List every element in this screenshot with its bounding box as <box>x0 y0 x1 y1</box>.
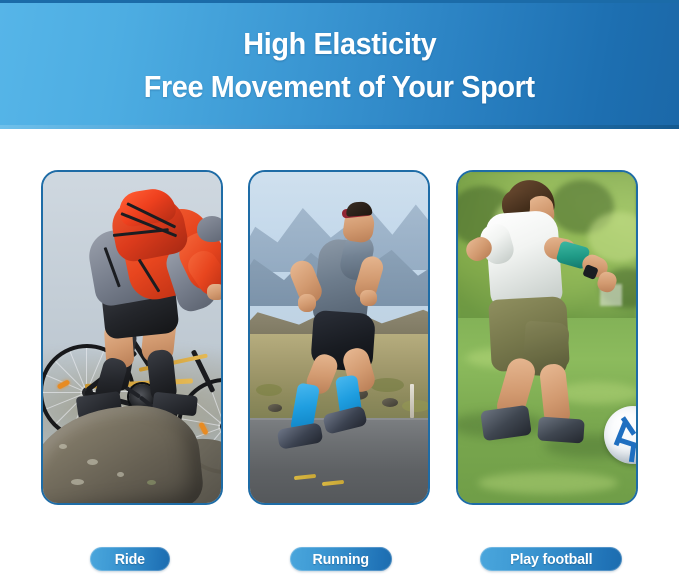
scene-playing-football <box>458 172 636 503</box>
headline-secondary: Free Movement of Your Sport <box>144 66 535 109</box>
photo-play-football <box>456 170 638 505</box>
headline-primary: High Elasticity <box>243 23 436 66</box>
card-ride[interactable] <box>41 170 223 505</box>
label-ride-text: Ride <box>115 551 145 568</box>
scene-mountain-biking <box>43 172 221 503</box>
scene-road-running <box>250 172 428 503</box>
card-labels-row: Ride Running Play football <box>0 547 679 576</box>
card-running[interactable] <box>248 170 430 505</box>
card-play-football[interactable] <box>456 170 638 505</box>
header-banner: High Elasticity Free Movement of Your Sp… <box>0 0 679 129</box>
label-running-text: Running <box>313 551 369 568</box>
photo-running <box>248 170 430 505</box>
label-ride[interactable]: Ride <box>90 547 170 571</box>
sport-cards-row: Ride Running Play football <box>0 129 679 576</box>
label-play-football-text: Play football <box>510 551 592 568</box>
promo-banner-page: High Elasticity Free Movement of Your Sp… <box>0 0 679 576</box>
label-running[interactable]: Running <box>290 547 392 571</box>
photo-ride <box>41 170 223 505</box>
label-play-football[interactable]: Play football <box>480 547 622 571</box>
header-text-block: High Elasticity Free Movement of Your Sp… <box>0 3 679 129</box>
